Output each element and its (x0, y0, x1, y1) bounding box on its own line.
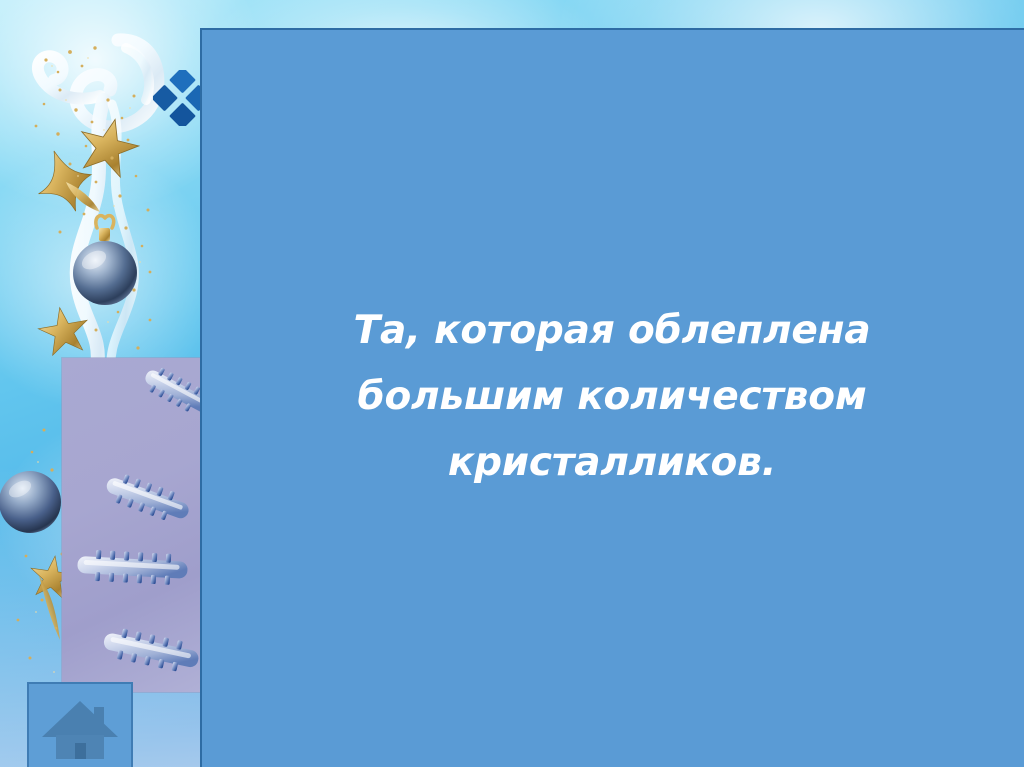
blue-ornament-ball (73, 216, 137, 305)
ice-crystal-photo (62, 358, 202, 692)
gold-star-icon (73, 112, 143, 179)
ice-crystal-needle (102, 469, 193, 527)
blue-ornament-ball (0, 471, 61, 533)
slide-canvas: Та, которая облеплена большим количество… (0, 0, 1024, 767)
slide-body-text: Та, которая облеплена большим количество… (262, 298, 962, 496)
home-button[interactable] (27, 682, 133, 767)
ice-crystal-needle (101, 625, 201, 675)
content-panel: Та, которая облеплена большим количество… (200, 28, 1024, 767)
gold-starfish-icon (27, 142, 100, 220)
home-icon (40, 695, 120, 759)
ice-crystal-needle (77, 549, 188, 586)
ice-crystal-needle (140, 363, 202, 421)
gold-star-icon (35, 303, 92, 356)
